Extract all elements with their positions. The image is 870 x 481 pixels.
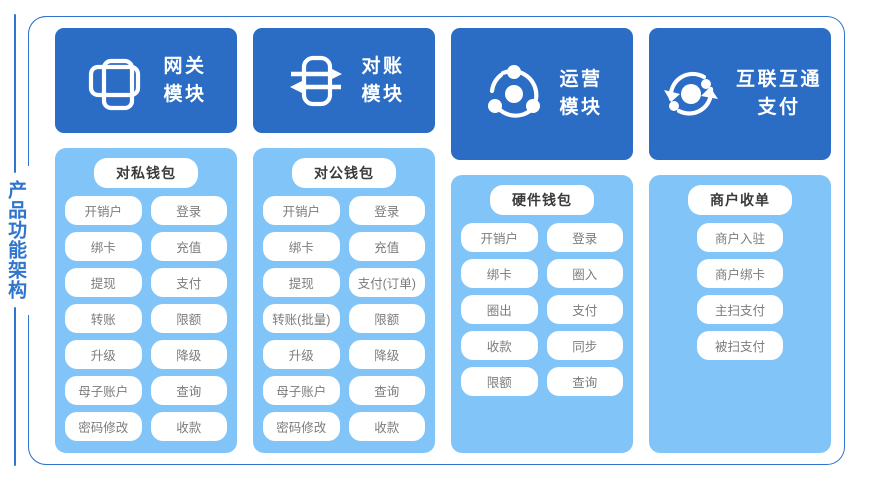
panel-title-corporate-wallet: 对公钱包 — [292, 158, 396, 188]
tag-item[interactable]: 同步 — [547, 331, 624, 360]
tag-item[interactable]: 支付 — [151, 268, 228, 297]
side-label-line-top — [14, 14, 16, 173]
module-column-interop-payment: 互联互通 支付 商户收单 商户入驻 商户绑卡 主扫支付 被扫支付 — [649, 28, 831, 453]
tag-item[interactable]: 收款 — [461, 331, 538, 360]
tag-item[interactable]: 提现 — [65, 268, 142, 297]
tag-item[interactable]: 开销户 — [263, 196, 340, 225]
header-card-interop-payment[interactable]: 互联互通 支付 — [649, 28, 831, 160]
tag-item[interactable]: 充值 — [349, 232, 426, 261]
module-columns: 网关 模块 对私钱包 开销户 登录 绑卡 充值 提现 支付 转账 限额 升级 降… — [55, 28, 831, 453]
tag-item[interactable]: 查询 — [151, 376, 228, 405]
tag-item[interactable]: 限额 — [349, 304, 426, 333]
two-way-arrows-icon — [283, 48, 349, 114]
panel-corporate-wallet: 对公钱包 开销户 登录 绑卡 充值 提现 支付(订单) 转账(批量) 限额 升级… — [253, 148, 435, 453]
tag-item[interactable]: 限额 — [151, 304, 228, 333]
module-column-operations: 运营 模块 硬件钱包 开销户 登录 绑卡 圈入 圈出 支付 收款 同步 限额 查… — [451, 28, 633, 453]
tag-item[interactable]: 升级 — [65, 340, 142, 369]
header-card-operations[interactable]: 运营 模块 — [451, 28, 633, 160]
panel-private-wallet: 对私钱包 开销户 登录 绑卡 充值 提现 支付 转账 限额 升级 降级 母子账户… — [55, 148, 237, 453]
tag-item[interactable]: 查询 — [349, 376, 426, 405]
tag-item[interactable]: 密码修改 — [65, 412, 142, 441]
header-card-reconciliation[interactable]: 对账 模块 — [253, 28, 435, 133]
side-label-group: 产品功能架构 — [0, 14, 30, 466]
panel-merchant-acquiring: 商户收单 商户入驻 商户绑卡 主扫支付 被扫支付 — [649, 175, 831, 453]
panel-title-merchant-acquiring: 商户收单 — [688, 185, 792, 215]
orbit-nodes-icon — [481, 61, 547, 127]
tag-item[interactable]: 密码修改 — [263, 412, 340, 441]
tag-grid-merchant-acquiring: 商户入驻 商户绑卡 主扫支付 被扫支付 — [697, 223, 783, 360]
outer-frame-left-bottom — [28, 315, 56, 465]
tag-item[interactable]: 升级 — [263, 340, 340, 369]
tag-item[interactable]: 收款 — [349, 412, 426, 441]
tag-item[interactable]: 充值 — [151, 232, 228, 261]
panel-title-private-wallet: 对私钱包 — [94, 158, 198, 188]
tag-grid-private-wallet: 开销户 登录 绑卡 充值 提现 支付 转账 限额 升级 降级 母子账户 查询 密… — [65, 196, 227, 441]
module-column-gateway: 网关 模块 对私钱包 开销户 登录 绑卡 充值 提现 支付 转账 限额 升级 降… — [55, 28, 237, 453]
tag-item[interactable]: 限额 — [461, 367, 538, 396]
tag-item[interactable]: 支付 — [547, 295, 624, 324]
tag-item[interactable]: 商户绑卡 — [697, 259, 783, 288]
header-title-reconciliation: 对账 模块 — [361, 53, 404, 108]
product-architecture-diagram: 产品功能架构 网关 模块 对私钱包 开销户 登录 绑卡 — [0, 0, 870, 481]
tag-item[interactable]: 被扫支付 — [697, 331, 783, 360]
tag-item[interactable]: 圈入 — [547, 259, 624, 288]
tag-item[interactable]: 绑卡 — [263, 232, 340, 261]
side-label-text: 产品功能架构 — [5, 173, 25, 307]
tag-item[interactable]: 提现 — [263, 268, 340, 297]
tag-item[interactable]: 绑卡 — [461, 259, 538, 288]
header-title-interop-payment: 互联互通 支付 — [736, 66, 822, 121]
header-title-gateway: 网关 模块 — [163, 53, 206, 108]
interlocking-cross-icon — [85, 48, 151, 114]
tag-item[interactable]: 登录 — [349, 196, 426, 225]
tag-item[interactable]: 商户入驻 — [697, 223, 783, 252]
tag-item[interactable]: 母子账户 — [263, 376, 340, 405]
tag-item[interactable]: 登录 — [547, 223, 624, 252]
panel-title-hardware-wallet: 硬件钱包 — [490, 185, 594, 215]
tag-item[interactable]: 查询 — [547, 367, 624, 396]
tag-item[interactable]: 转账 — [65, 304, 142, 333]
tag-item[interactable]: 收款 — [151, 412, 228, 441]
tag-grid-corporate-wallet: 开销户 登录 绑卡 充值 提现 支付(订单) 转账(批量) 限额 升级 降级 母… — [263, 196, 425, 441]
module-column-reconciliation: 对账 模块 对公钱包 开销户 登录 绑卡 充值 提现 支付(订单) 转账(批量)… — [253, 28, 435, 453]
tag-item[interactable]: 圈出 — [461, 295, 538, 324]
outer-frame-left-top — [28, 16, 56, 166]
tag-grid-hardware-wallet: 开销户 登录 绑卡 圈入 圈出 支付 收款 同步 限额 查询 — [461, 223, 623, 396]
tag-item[interactable]: 登录 — [151, 196, 228, 225]
header-card-gateway[interactable]: 网关 模块 — [55, 28, 237, 133]
tag-item[interactable]: 降级 — [151, 340, 228, 369]
tag-item[interactable]: 主扫支付 — [697, 295, 783, 324]
cyclic-arrows-icon — [658, 61, 724, 127]
tag-item[interactable]: 开销户 — [461, 223, 538, 252]
side-label-line-bottom — [14, 307, 16, 466]
tag-item[interactable]: 转账(批量) — [263, 304, 340, 333]
tag-item[interactable]: 降级 — [349, 340, 426, 369]
tag-item[interactable]: 支付(订单) — [349, 268, 426, 297]
header-title-operations: 运营 模块 — [559, 66, 602, 121]
tag-item[interactable]: 开销户 — [65, 196, 142, 225]
tag-item[interactable]: 母子账户 — [65, 376, 142, 405]
panel-hardware-wallet: 硬件钱包 开销户 登录 绑卡 圈入 圈出 支付 收款 同步 限额 查询 — [451, 175, 633, 453]
tag-item[interactable]: 绑卡 — [65, 232, 142, 261]
